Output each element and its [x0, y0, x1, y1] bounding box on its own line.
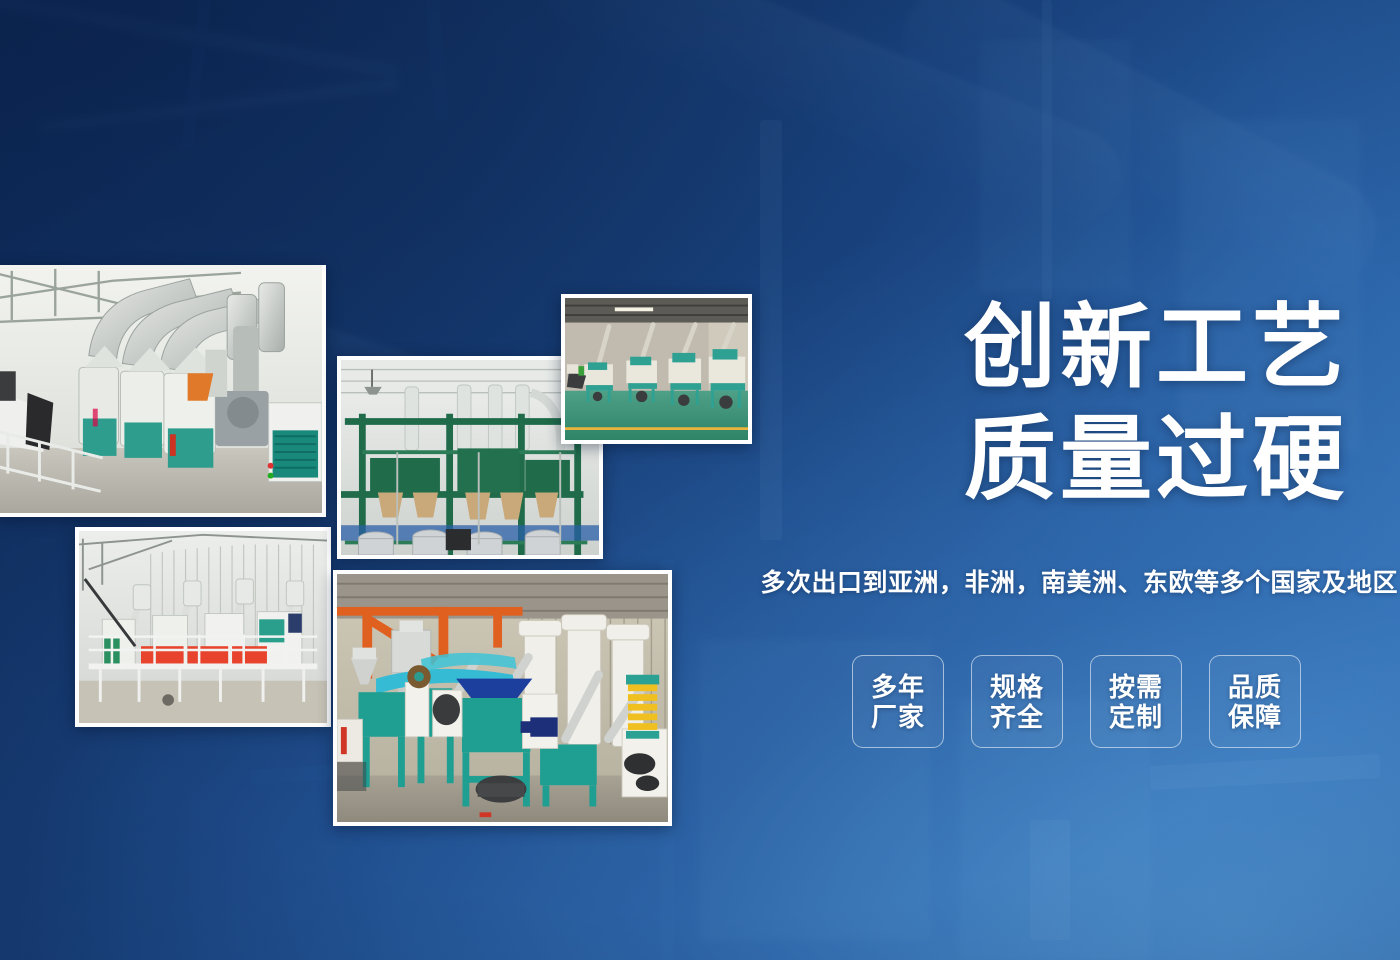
- feature-badges: 多年 厂家 规格 齐全 按需 定制 品质 保障: [0, 655, 1400, 748]
- headline-line-2: 质量过硬: [0, 404, 1348, 516]
- badge-full-specifications[interactable]: 规格 齐全: [971, 655, 1063, 748]
- badge-many-years-manufacturer[interactable]: 多年 厂家: [852, 655, 944, 748]
- badge-line-1: 按需: [1109, 672, 1163, 702]
- headline: 创新工艺 质量过硬: [0, 292, 1400, 516]
- badge-line-1: 多年: [871, 672, 925, 702]
- badge-line-1: 规格: [990, 672, 1044, 702]
- badge-line-1: 品质: [1228, 672, 1282, 702]
- badge-line-2: 保障: [1228, 702, 1282, 732]
- subtitle: 多次出口到亚洲，非洲，南美洲、东欧等多个国家及地区: [0, 566, 1400, 600]
- headline-line-1: 创新工艺: [0, 292, 1348, 404]
- badge-quality-guarantee[interactable]: 品质 保障: [1209, 655, 1301, 748]
- promotional-banner: 创新工艺 质量过硬 多次出口到亚洲，非洲，南美洲、东欧等多个国家及地区 多年 厂…: [0, 0, 1400, 960]
- badge-custom-made[interactable]: 按需 定制: [1090, 655, 1182, 748]
- badge-line-2: 厂家: [871, 702, 925, 732]
- badge-line-2: 齐全: [990, 702, 1044, 732]
- badge-line-2: 定制: [1109, 702, 1163, 732]
